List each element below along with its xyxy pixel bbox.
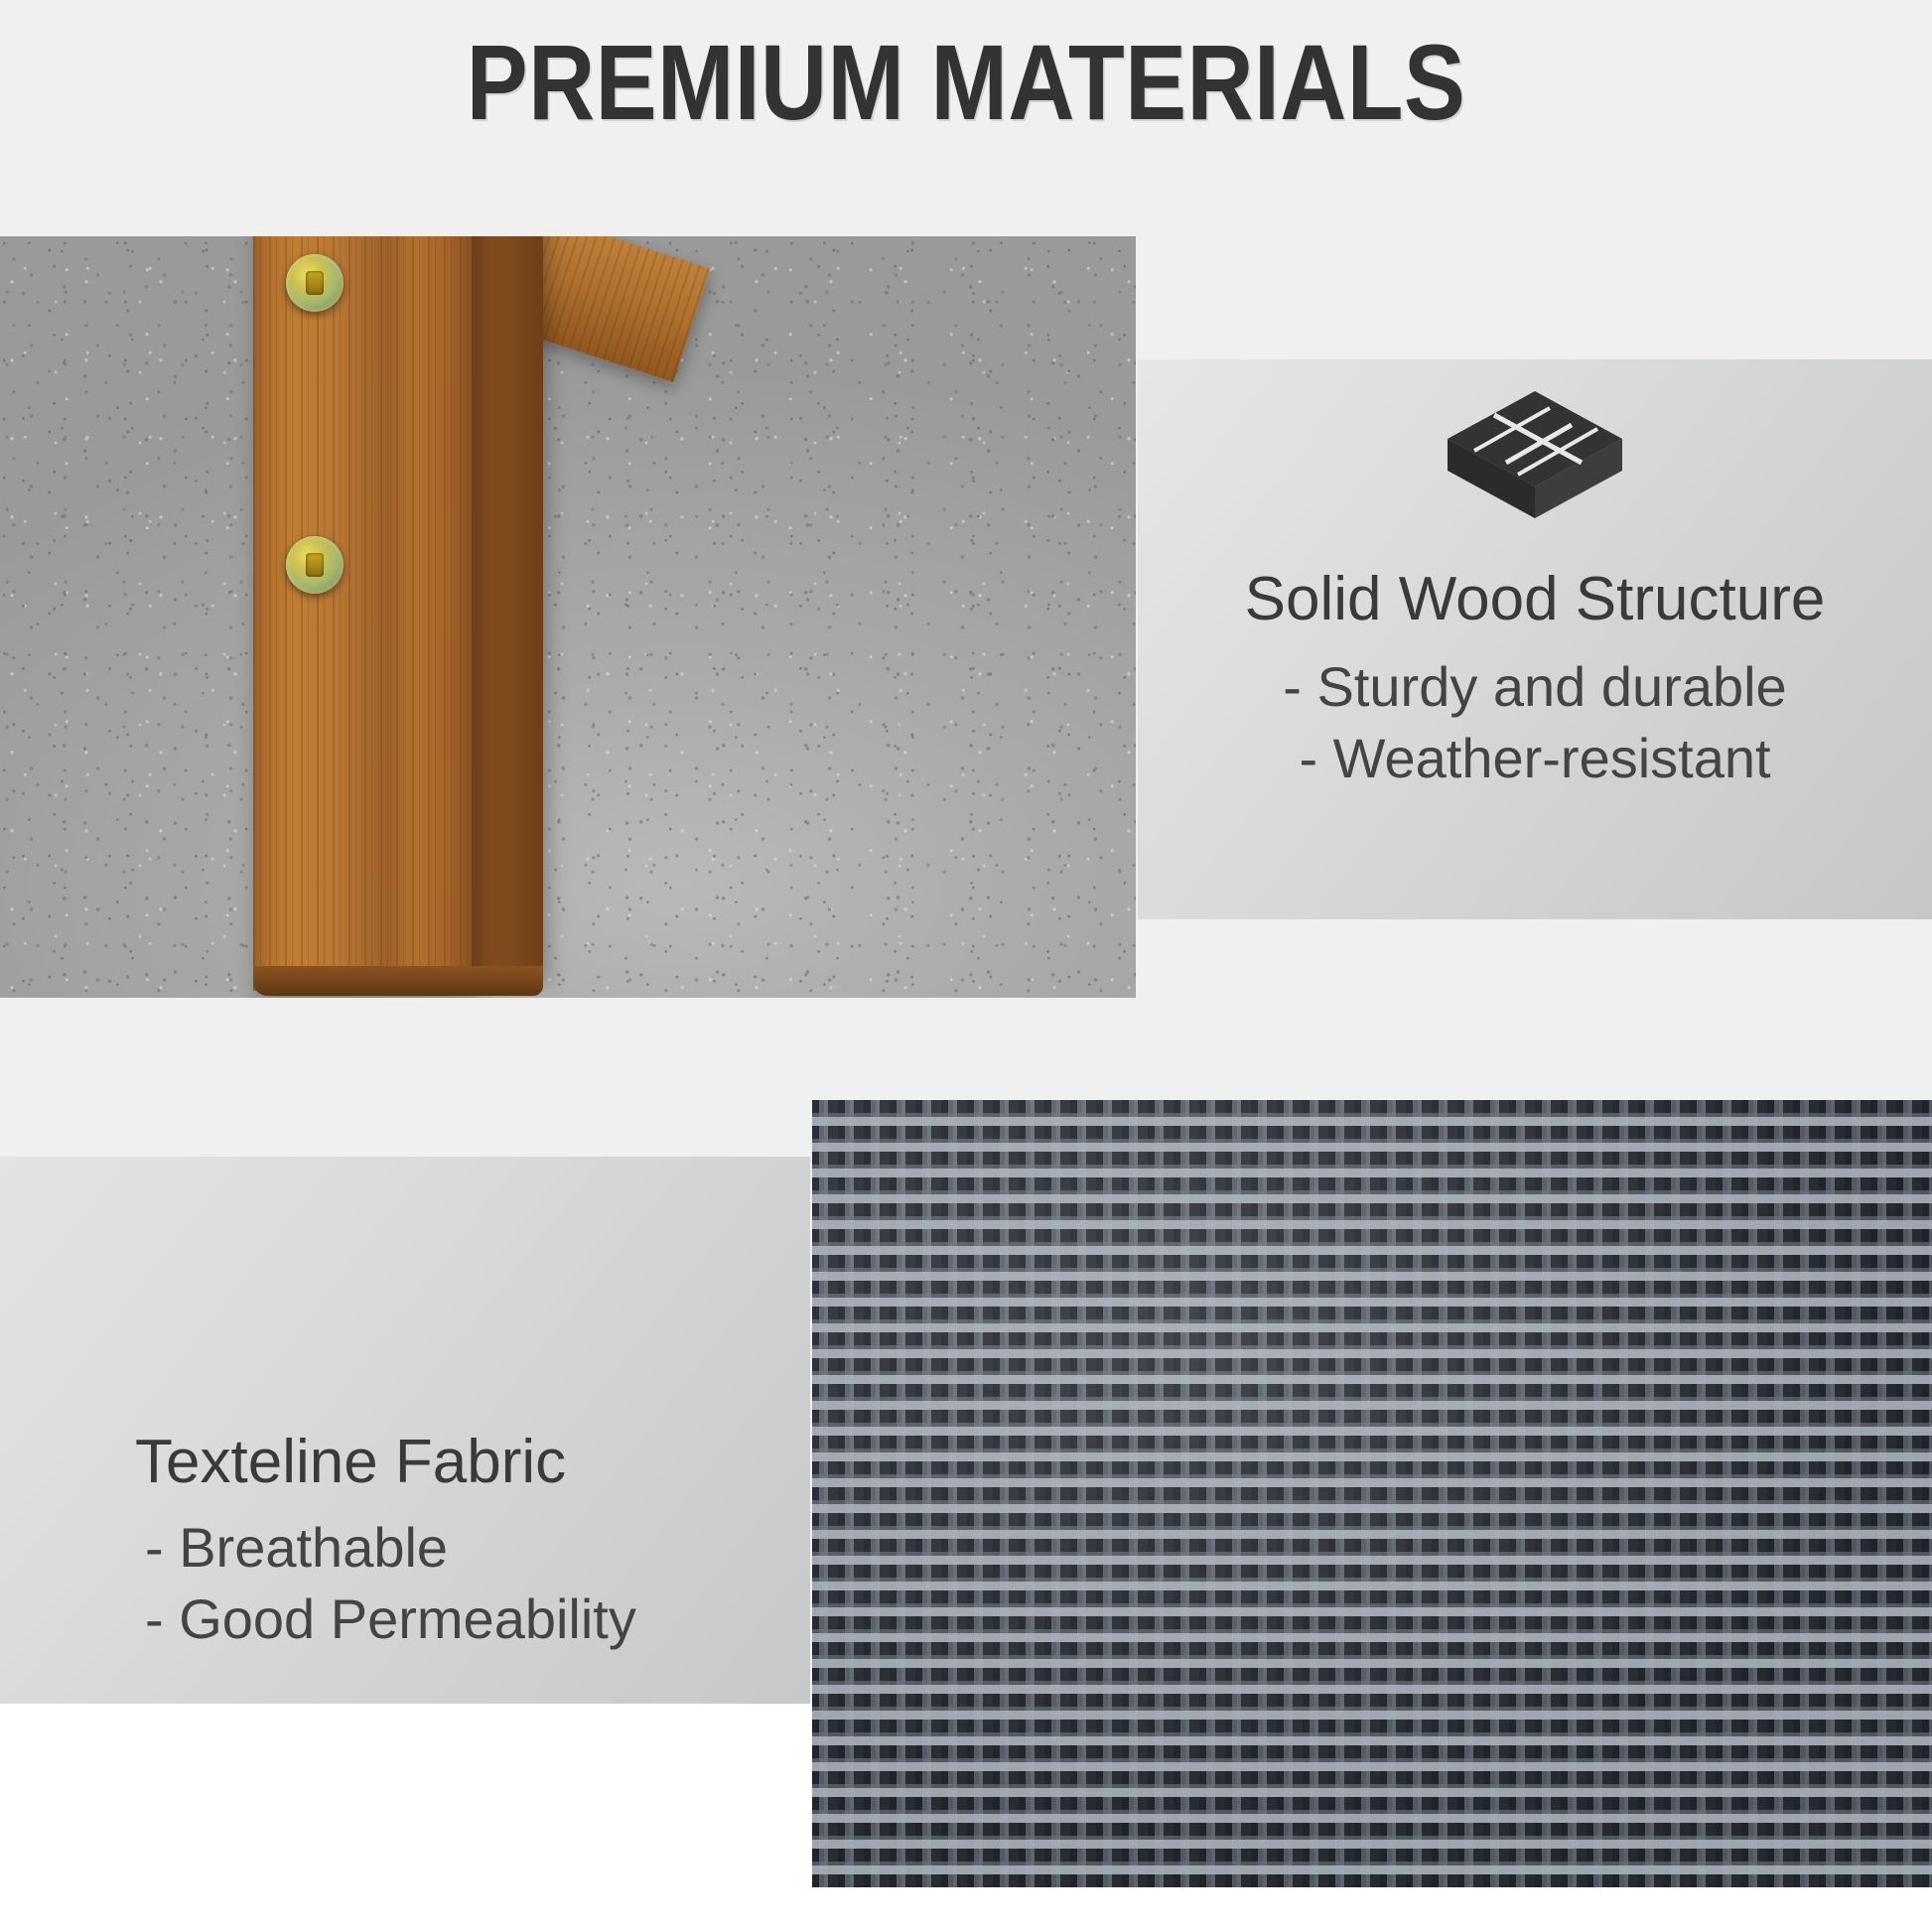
screw-icon — [286, 536, 344, 594]
fabric-highlight-sheen — [812, 1100, 1932, 1887]
wood-leg-photo — [0, 236, 1136, 998]
wood-leg-side-face — [472, 236, 543, 976]
wood-leg-front-face — [253, 236, 472, 991]
concrete-floor-texture — [0, 236, 1136, 998]
panel-texteline-fabric: Texteline Fabric - Breathable - Good Per… — [0, 1157, 810, 1704]
screw-icon — [286, 254, 344, 312]
panel-solid-wood: Solid Wood Structure - Sturdy and durabl… — [1138, 359, 1932, 919]
panel-bullets-solid-wood: - Sturdy and durable - Weather-resistant — [1138, 651, 1932, 793]
textilene-fabric-photo — [812, 1100, 1932, 1887]
panel-bullets-texteline-fabric: - Breathable - Good Permeability — [0, 1512, 810, 1654]
bullet-item: - Good Permeability — [145, 1584, 810, 1655]
wood-plank-block-icon — [1441, 383, 1629, 532]
bullet-item: - Sturdy and durable — [1138, 651, 1932, 723]
panel-heading-solid-wood: Solid Wood Structure — [1138, 566, 1932, 633]
panel-heading-texteline-fabric: Texteline Fabric — [0, 1429, 810, 1496]
bullet-item: - Weather-resistant — [1138, 723, 1932, 794]
bullet-item: - Breathable — [145, 1512, 810, 1584]
wood-leg-foot — [253, 966, 543, 996]
page-title: PREMIUM MATERIALS — [135, 26, 1797, 139]
